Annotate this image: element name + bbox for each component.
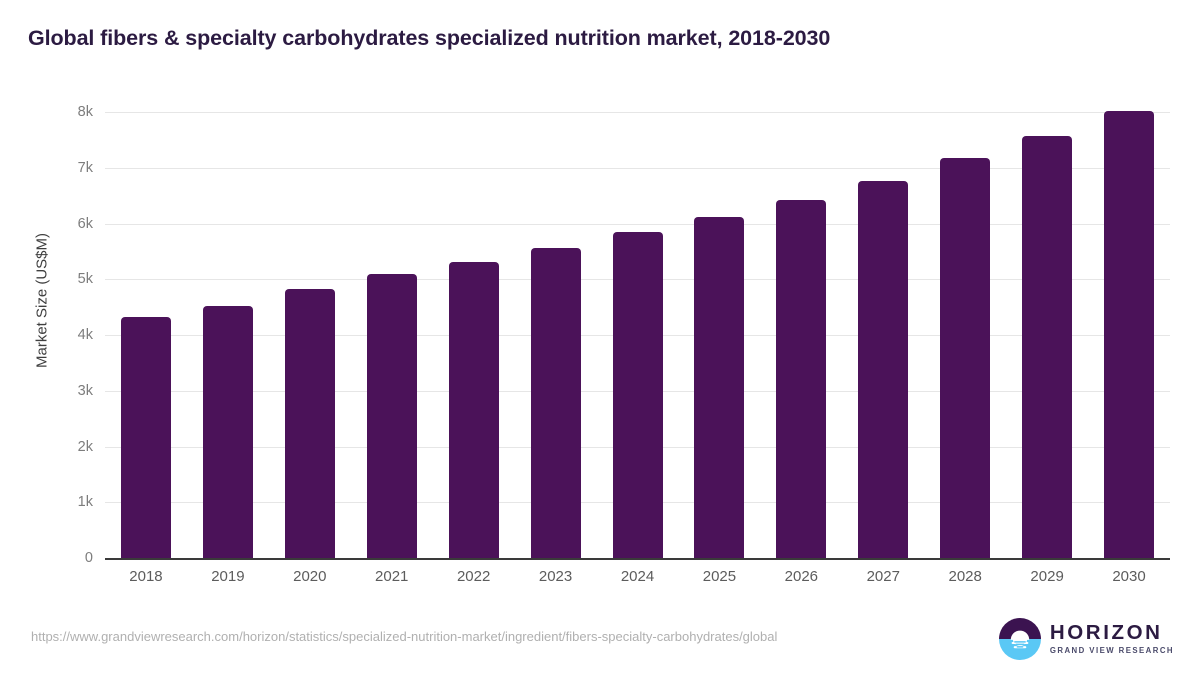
x-tick-label: 2020 — [293, 568, 326, 585]
bar[interactable] — [1104, 111, 1154, 559]
y-tick-label: 0 — [85, 550, 93, 566]
x-tick-label: 2022 — [457, 568, 490, 585]
horizon-wordmark: HORIZON — [1050, 623, 1174, 644]
bar[interactable] — [694, 217, 744, 559]
y-tick-label: 2k — [78, 439, 93, 455]
x-tick-label: 2027 — [867, 568, 900, 585]
bar[interactable] — [940, 158, 990, 559]
x-tick-label: 2029 — [1030, 568, 1063, 585]
bar[interactable] — [613, 232, 663, 559]
horizon-logo: HORIZON GRAND VIEW RESEARCH — [999, 618, 1174, 660]
x-axis-line — [105, 558, 1170, 560]
x-tick-label: 2024 — [621, 568, 654, 585]
page-title: Global fibers & specialty carbohydrates … — [28, 26, 830, 51]
x-tick-label: 2026 — [785, 568, 818, 585]
y-axis-title: Market Size (US$M) — [34, 101, 51, 501]
y-tick-label: 4k — [78, 327, 93, 343]
horizon-logo-mark — [999, 618, 1041, 660]
bar[interactable] — [121, 317, 171, 560]
y-tick-label: 5k — [78, 271, 93, 287]
x-tick-label: 2021 — [375, 568, 408, 585]
y-tick-label: 6k — [78, 216, 93, 232]
x-tick-label: 2023 — [539, 568, 572, 585]
bar[interactable] — [858, 181, 908, 559]
x-tick-label: 2028 — [949, 568, 982, 585]
y-tick-label: 7k — [78, 160, 93, 176]
x-tick-label: 2030 — [1112, 568, 1145, 585]
chart-page: Global fibers & specialty carbohydrates … — [0, 0, 1200, 675]
bar[interactable] — [531, 248, 581, 559]
x-tick-label: 2025 — [703, 568, 736, 585]
bar[interactable] — [367, 274, 417, 559]
bars-layer — [105, 112, 1170, 559]
horizon-tagline: GRAND VIEW RESEARCH — [1050, 647, 1174, 655]
y-tick-label: 1k — [78, 494, 93, 510]
bar[interactable] — [203, 306, 253, 559]
bar[interactable] — [449, 262, 499, 559]
x-tick-label: 2018 — [129, 568, 162, 585]
x-axis-tick-labels: 2018201920202021202220232024202520262027… — [105, 568, 1170, 598]
horizon-logo-text: HORIZON GRAND VIEW RESEARCH — [1050, 623, 1174, 654]
y-tick-label: 3k — [78, 383, 93, 399]
x-tick-label: 2019 — [211, 568, 244, 585]
source-url[interactable]: https://www.grandviewresearch.com/horizo… — [31, 627, 911, 646]
bar[interactable] — [776, 200, 826, 559]
bar[interactable] — [1022, 136, 1072, 559]
bar[interactable] — [285, 289, 335, 559]
y-tick-label: 8k — [78, 104, 93, 120]
